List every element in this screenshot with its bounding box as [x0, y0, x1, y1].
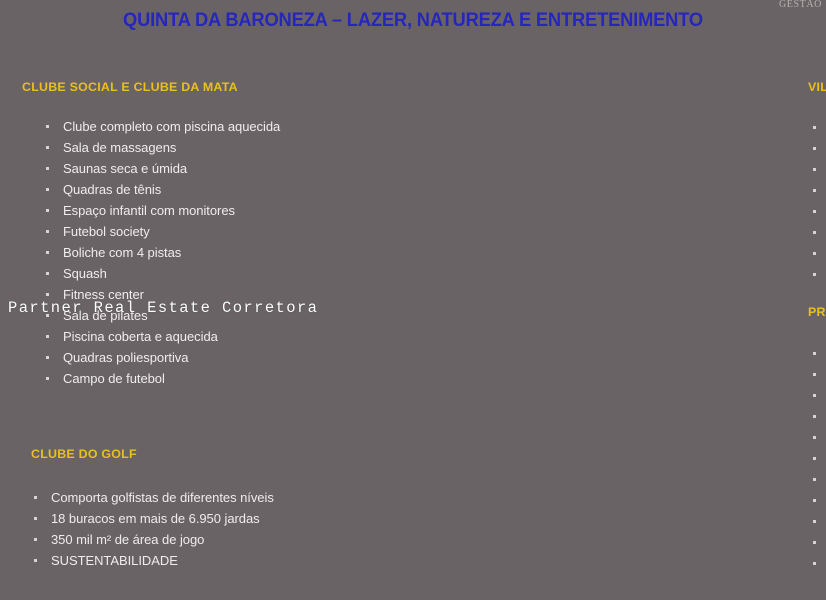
list-item: Clube completo com piscina aquecida — [63, 116, 280, 137]
section-heading: CLUBE SOCIAL E CLUBE DA MATA — [22, 80, 280, 94]
list-item: Squash — [63, 263, 280, 284]
list-item: 18 buracos em mais de 6.950 jardas — [51, 508, 274, 529]
list-item: Sala de massagens — [63, 137, 280, 158]
list-item: Futebol society — [63, 221, 280, 242]
list-item: Campo de futebol — [63, 368, 280, 389]
section-heading: PRESERVAÇÃO, SUSTENTABILIDADE E TECNOLOG… — [808, 305, 826, 319]
list-item: Quadras poliesportiva — [63, 347, 280, 368]
watermark: Partner Real Estate Corretora — [8, 299, 318, 317]
section-preservacao-sustentabilidade-e-tecnologia: PRESERVAÇÃO, SUSTENTABILIDADE E TECNOLOG… — [808, 305, 826, 574]
list-item: Boliche com 4 pistas — [63, 242, 280, 263]
feature-list-clube-social: Clube completo com piscina aquecida Sala… — [63, 116, 280, 389]
section-heading: VILA HIPICA — [808, 80, 826, 94]
section-clube-social-e-clube-da-mata: CLUBE SOCIAL E CLUBE DA MATA Clube compl… — [22, 80, 280, 389]
right-column: VILA HIPICA 80 Baias Piquetes Picadeiros… — [400, 0, 826, 600]
section-clube-do-golf: CLUBE DO GOLF Comporta golfistas de dife… — [31, 447, 274, 571]
list-item: Quadras de tênis — [63, 179, 280, 200]
feature-list-golf: Comporta golfistas de diferentes níveis … — [51, 487, 274, 571]
list-item: Espaço infantil com monitores — [63, 200, 280, 221]
list-item: 350 mil m² de área de jogo — [51, 529, 274, 550]
list-item: Piscina coberta e aquecida — [63, 326, 280, 347]
list-item: SUSTENTABILIDADE — [51, 550, 274, 571]
list-item: Saunas seca e úmida — [63, 158, 280, 179]
section-vila-hipica: VILA HIPICA 80 Baias Piquetes Picadeiros… — [808, 80, 826, 285]
list-item: Comporta golfistas de diferentes níveis — [51, 487, 274, 508]
presentation-slide: Gestão QUINTA DA BARONEZA – LAZER, NATUR… — [0, 0, 826, 600]
section-heading: CLUBE DO GOLF — [31, 447, 274, 461]
